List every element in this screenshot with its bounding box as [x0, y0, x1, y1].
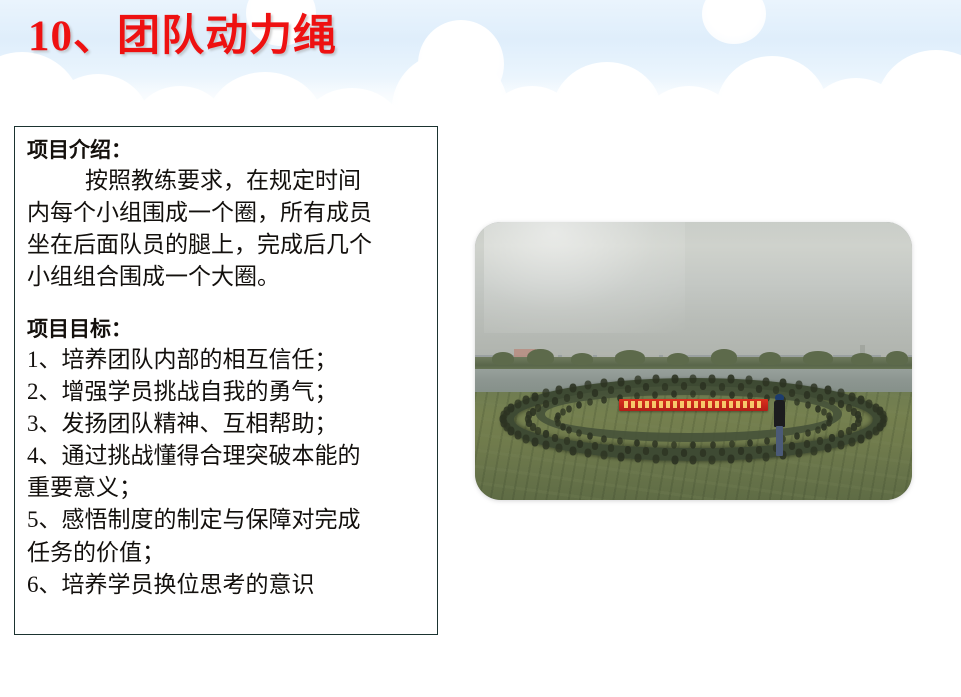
participant-dot: [543, 430, 549, 438]
participant-dot: [848, 392, 855, 401]
participant-dot: [700, 382, 706, 390]
participant-dot: [569, 383, 576, 392]
page-title: 10、团队动力绳: [28, 14, 337, 59]
participant-dot: [745, 376, 752, 385]
participant-dot: [514, 431, 521, 440]
intro-line: 坐在后面队员的腿上，完成后几个: [27, 229, 431, 261]
participant-dot: [535, 404, 541, 412]
intro-line: 内每个小组围成一个圈，所有成员: [27, 197, 431, 229]
participant-dot: [592, 442, 598, 450]
participant-dot: [756, 385, 762, 393]
participant-dot: [789, 442, 795, 450]
participant-dot: [552, 397, 558, 405]
participant-dot: [804, 440, 810, 448]
intro-line: 按照教练要求，在规定时间: [27, 165, 431, 197]
participant-dot: [773, 386, 779, 394]
participant-dot: [588, 399, 594, 406]
participant-dot: [851, 423, 857, 431]
participant-dot: [811, 383, 818, 392]
participant-dot: [796, 381, 803, 390]
participant-dot: [838, 400, 844, 408]
goal-line: 3、发扬团队精神、互相帮助；: [27, 408, 431, 440]
participant-dot: [747, 439, 753, 446]
participant-dot: [555, 444, 562, 453]
participant-dot: [690, 374, 697, 383]
participant-dot: [846, 427, 852, 435]
participant-dot: [543, 400, 549, 408]
participant-dot: [662, 382, 668, 390]
instructor-legs: [776, 426, 783, 456]
goal-line: 6、培养学员换位思考的意识: [27, 569, 431, 601]
participant-dot: [738, 383, 744, 391]
participant-dot: [817, 437, 823, 445]
participant-dot: [796, 449, 803, 458]
participant-dot: [600, 451, 607, 460]
participant-dot: [576, 402, 582, 409]
participant-dot: [681, 449, 687, 457]
participant-dot: [652, 391, 658, 398]
participant-dot: [532, 392, 539, 401]
participant-dot: [560, 408, 566, 415]
slide-title-text: 10、团队动力绳: [28, 13, 337, 60]
participant-dot: [617, 453, 624, 462]
participant-dot: [764, 438, 770, 445]
project-info-box: 项目介绍： 按照教练要求，在规定时间 内每个小组围成一个圈，所有成员 坐在后面队…: [14, 126, 438, 635]
participant-dot: [738, 447, 744, 455]
participant-dot: [643, 447, 649, 455]
participant-dot: [729, 441, 735, 448]
goal-line: 2、增强学员挑战自我的勇气；: [27, 376, 431, 408]
goals-body: 1、培养团队内部的相互信任； 2、增强学员挑战自我的勇气； 3、发扬团队精神、互…: [27, 344, 431, 602]
participant-dot: [652, 441, 658, 448]
participant-dots: [501, 378, 886, 461]
participant-dot: [625, 385, 631, 393]
participant-dot: [709, 456, 716, 465]
participant-dot: [690, 456, 697, 465]
participant-dot: [691, 390, 697, 397]
goal-line: 重要意义；: [27, 472, 431, 504]
participant-dot: [719, 448, 725, 456]
participant-dot: [709, 374, 716, 383]
participant-dot: [822, 423, 828, 430]
participant-dot: [811, 446, 818, 455]
participant-dot: [577, 391, 583, 399]
cloud-shape: [702, 0, 766, 44]
participant-dot: [592, 389, 598, 397]
participant-dot: [858, 396, 865, 405]
participant-dot: [879, 411, 886, 420]
participant-dot: [838, 430, 844, 438]
participant-dot: [826, 412, 832, 419]
participant-dot: [567, 426, 573, 433]
participant-dot: [514, 399, 521, 408]
participant-dot: [691, 442, 697, 449]
participant-dot: [617, 438, 623, 445]
instructor-torso: [774, 400, 785, 427]
participant-dot: [576, 430, 582, 437]
participant-dot: [532, 438, 539, 447]
participant-dot: [653, 375, 660, 384]
participant-dot: [564, 394, 570, 402]
participant-dot: [569, 446, 576, 455]
banner-text-strip: [624, 401, 764, 409]
participant-dot: [763, 453, 770, 462]
participant-dot: [671, 441, 677, 448]
participant-dot: [671, 456, 678, 465]
participant-dot: [806, 430, 812, 437]
participant-dot: [625, 446, 631, 454]
participant-dot: [653, 455, 660, 464]
participant-dot: [719, 382, 725, 390]
participant-dot: [584, 381, 591, 390]
participant-dot: [815, 405, 821, 412]
participant-dot: [756, 446, 762, 454]
participant-dot: [567, 405, 573, 412]
goal-line: 1、培养团队内部的相互信任；: [27, 344, 431, 376]
participant-dot: [729, 391, 735, 398]
participant-dot: [552, 434, 558, 442]
participant-dot: [643, 383, 649, 391]
instructor-figure: [774, 394, 785, 456]
participant-dot: [543, 389, 550, 398]
participant-dot: [848, 438, 855, 447]
participant-dot: [806, 402, 812, 409]
participant-dot: [635, 454, 642, 463]
participant-dot: [780, 379, 787, 388]
participant-dot: [710, 441, 716, 448]
participant-dot: [564, 437, 570, 445]
participant-dot: [700, 449, 706, 457]
participant-dot: [608, 444, 614, 452]
participant-dot: [671, 390, 677, 397]
participant-dot: [763, 377, 770, 386]
participant-dot: [855, 411, 861, 419]
participant-dot: [635, 376, 642, 385]
participant-dot: [872, 427, 879, 436]
participant-dot: [601, 435, 607, 442]
participant-dot: [662, 448, 668, 456]
participant-dot: [555, 386, 562, 395]
participant-dot: [825, 386, 832, 395]
red-banner: [619, 399, 768, 412]
participant-dot: [710, 390, 716, 397]
participant-dot: [671, 374, 678, 383]
participant-dot: [825, 444, 832, 453]
participant-dot: [617, 377, 624, 386]
participant-dot: [522, 434, 529, 443]
participant-dot: [794, 433, 800, 440]
intro-heading: 项目介绍：: [27, 137, 431, 164]
participant-dot: [828, 397, 834, 405]
intro-line: 小组组合围成一个大圈。: [27, 261, 431, 293]
participant-dot: [588, 433, 594, 440]
participant-dot: [577, 440, 583, 448]
participant-dot: [634, 439, 640, 446]
goal-line: 5、感悟制度的制定与保障对完成: [27, 504, 431, 536]
participant-dot: [681, 382, 687, 390]
intro-body: 按照教练要求，在规定时间 内每个小组围成一个圈，所有成员 坐在后面队员的腿上，完…: [27, 165, 431, 294]
participant-dot: [727, 455, 734, 464]
participant-dot: [804, 391, 810, 399]
participant-dot: [866, 431, 873, 440]
participant-dot: [745, 454, 752, 463]
participant-dot: [727, 375, 734, 384]
participant-dot: [522, 396, 529, 405]
participant-dot: [817, 394, 823, 402]
participant-dot: [789, 389, 795, 397]
participant-dot: [608, 386, 614, 394]
participant-dot: [837, 441, 844, 450]
participant-dot: [543, 441, 550, 450]
participant-dot: [828, 434, 834, 442]
participant-dot: [837, 389, 844, 398]
photo-sky-glow: [484, 222, 685, 333]
team-circle-photo: [475, 222, 912, 500]
participant-dot: [794, 399, 800, 406]
goals-heading: 项目目标：: [27, 316, 431, 343]
goal-line: 任务的价值；: [27, 537, 431, 569]
participant-dot: [858, 434, 865, 443]
participant-dot: [584, 449, 591, 458]
participant-dot: [601, 396, 607, 403]
participant-dot: [815, 426, 821, 433]
goal-line: 4、通过挑战懂得合理突破本能的: [27, 440, 431, 472]
participant-dot: [600, 379, 607, 388]
